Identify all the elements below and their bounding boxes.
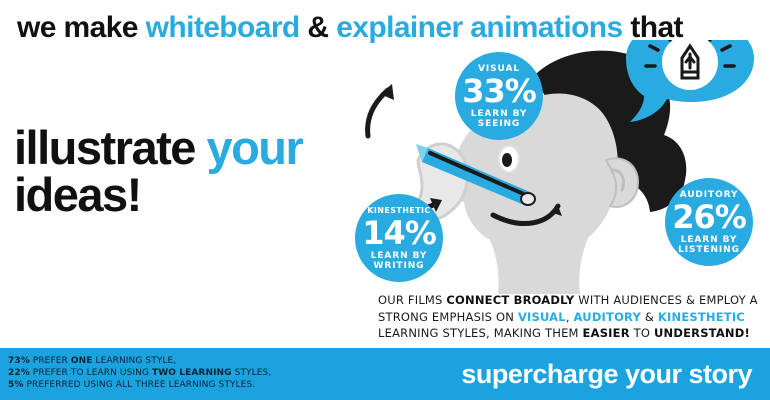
para-text: OUR FILMS [378,293,446,307]
para-text: WITH AUDIENCES & EMPLOY A [574,293,757,307]
bottom-stat-text: PREFER [30,356,71,366]
stat-sub-line-2: LISTENING [678,245,740,255]
para-highlight-auditory: AUDITORY [574,310,641,324]
stat-badge-kinesthetic: KINESTHETIC 14% LEARN BY WRITING [355,194,443,282]
stat-badge-auditory: AUDITORY 26% LEARN BY LISTENING [665,178,753,266]
bottom-stat-text: PREFER TO LEARN USING [30,368,152,378]
stat-sub-line-2: WRITING [374,261,425,271]
headline-main-dark: illustrate [14,121,206,174]
stat-percent: 14% [362,217,436,249]
bottom-stat-emphasis: ONE [71,356,93,366]
para-text: STRONG EMPHASIS ON [378,310,518,324]
para-text: & [641,310,658,324]
bottom-stat-line-1: 73% PREFER ONE LEARNING STYLE, [8,355,338,367]
bottom-stat-emphasis: TWO LEARNING [152,368,232,378]
stat-sub-line-2: SEEING [478,119,520,129]
bottom-bar: 73% PREFER ONE LEARNING STYLE, 22% PREFE… [0,348,770,400]
stat-sub-line-1: LEARN BY [371,251,428,261]
bottom-stat-line-2: 22% PREFER TO LEARN USING TWO LEARNING S… [8,367,338,379]
paragraph-line-1: OUR FILMS CONNECT BROADLY WITH AUDIENCES… [378,292,763,309]
para-emphasis-connect-broadly: CONNECT BROADLY [446,293,574,307]
poster-canvas: we make whiteboard & explainer animation… [0,0,770,400]
bottom-stat-text: PREFERRED USING ALL THREE LEARNING STYLE… [23,380,255,390]
para-emphasis-easier: EASIER [583,326,630,340]
tagline: supercharge your story [461,358,752,390]
bottom-stat-percent: 5% [8,380,23,390]
stat-percent: 33% [462,75,536,107]
bottom-stat-percent: 73% [8,356,30,366]
curved-arrow-up [368,90,388,136]
para-text: TO [630,326,654,340]
stat-badge-visual: VISUAL 33% LEARN BY SEEING [455,52,543,140]
para-text: LEARNING STYLES, MAKING THEM [378,326,583,340]
para-highlight-visual: VISUAL [518,310,566,324]
headline-main-blue: your [206,121,302,174]
description-paragraph: OUR FILMS CONNECT BROADLY WITH AUDIENCES… [378,292,763,342]
bottom-stat-text: LEARNING STYLE, [93,356,177,366]
bottom-stat-text: STYLES, [232,368,272,378]
bottom-stat-percent: 22% [8,368,30,378]
speech-bubble-idea [626,40,754,122]
stat-sub-line-1: LEARN BY [681,235,738,245]
bottom-stat-line-3: 5% PREFERRED USING ALL THREE LEARNING ST… [8,379,338,391]
stat-percent: 26% [672,201,746,233]
para-text: , [566,310,574,324]
headline-top-seg-2: whiteboard [146,11,300,44]
headline-top-seg-1: we make [17,11,146,44]
para-highlight-kinesthetic: KINESTHETIC [658,310,745,324]
paragraph-line-2: STRONG EMPHASIS ON VISUAL, AUDITORY & KI… [378,309,763,326]
bottom-statistics: 73% PREFER ONE LEARNING STYLE, 22% PREFE… [8,355,338,391]
stat-sub-line-1: LEARN BY [471,109,528,119]
eye-pupil [502,153,512,167]
paragraph-line-3: LEARNING STYLES, MAKING THEM EASIER TO U… [378,325,763,342]
para-emphasis-understand: UNDERSTAND! [654,326,750,340]
